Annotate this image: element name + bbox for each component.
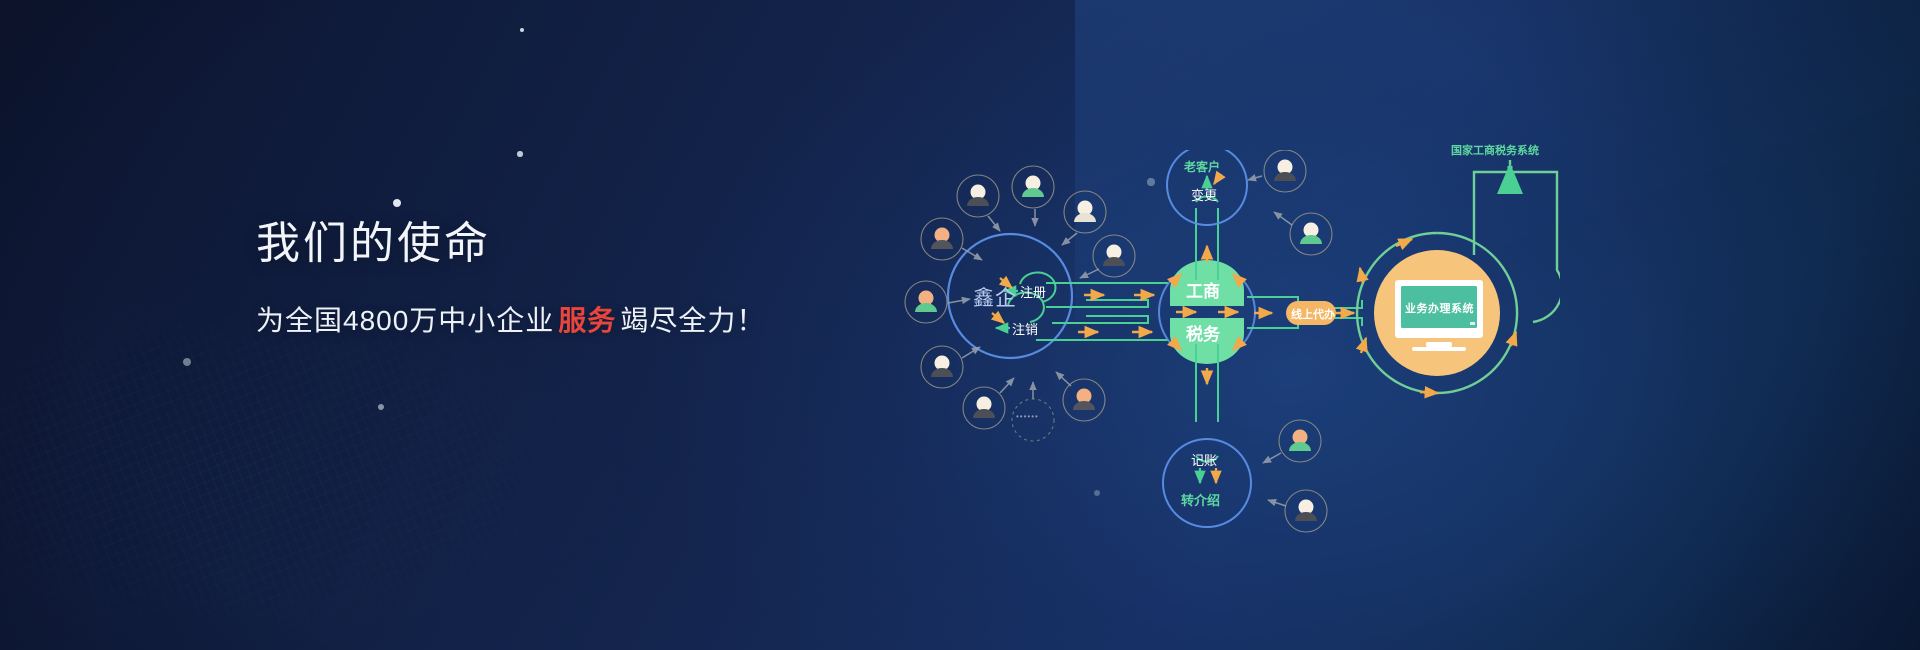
service-flow-diagram: 鑫企 注册 注销 工商 税务 老客户 变更 记账 转介绍 线上代办 业务办理系统…: [900, 150, 1560, 550]
decorative-dot: [520, 28, 525, 33]
bookkeeping-node: [1163, 439, 1251, 527]
center-vertical-pipes: [1196, 208, 1218, 422]
online-agent-pill: [1286, 301, 1336, 325]
placeholder-avatar-ring: [1012, 399, 1054, 441]
subtitle-text-after: 竭尽全力！: [620, 305, 765, 336]
avatar-arrows: [948, 209, 1099, 399]
decorative-dot: [393, 199, 402, 208]
hero-banner: 我们的使命 为全国4800万中小企业服务竭尽全力！: [0, 0, 1920, 650]
page-title: 我们的使命: [256, 218, 765, 271]
decorative-dot: [183, 358, 191, 366]
subtitle-text-before: 为全国4800万中小企业: [256, 305, 554, 336]
hero-subtitle: 为全国4800万中小企业服务竭尽全力！: [256, 299, 765, 339]
customer-avatars: [905, 166, 1135, 429]
center-node-group: [1159, 260, 1255, 364]
old-customer-node: [1167, 150, 1247, 225]
hero-copy: 我们的使命 为全国4800万中小企业服务竭尽全力！: [256, 218, 765, 339]
flow-loops: [1008, 272, 1056, 322]
decorative-dot: [517, 151, 522, 156]
decorative-dot: [378, 404, 384, 410]
background-grid-texture: [0, 300, 820, 650]
old-customer-avatars: [1264, 150, 1332, 255]
subtitle-highlight: 服务: [554, 305, 620, 336]
